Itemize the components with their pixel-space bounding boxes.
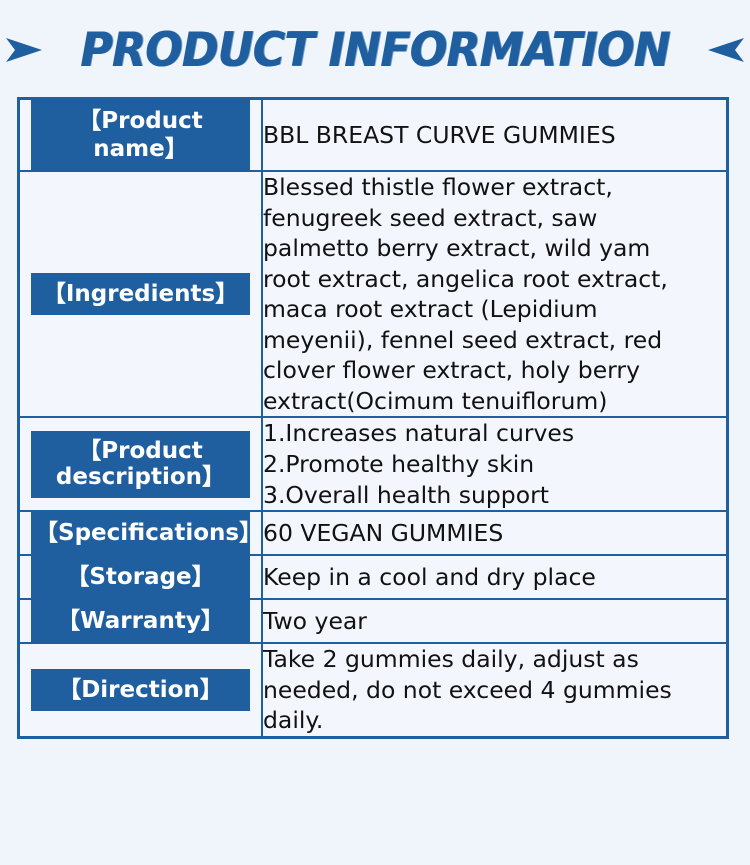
table-row: 【Direction】 Take 2 gummies daily, adjust… xyxy=(19,643,728,737)
row-label: 【Specifications】 xyxy=(31,512,250,554)
product-information-page: PRODUCT INFORMATION 【Product name】 BBL B… xyxy=(0,0,750,865)
table-row-label-cell: 【Product name】 xyxy=(19,99,263,172)
row-label: 【Ingredients】 xyxy=(31,273,250,315)
row-value: Keep in a cool and dry place xyxy=(262,555,728,599)
page-header: PRODUCT INFORMATION xyxy=(0,14,750,86)
row-value: 60 VEGAN GUMMIES xyxy=(262,511,728,555)
product-information-table: 【Product name】 BBL BREAST CURVE GUMMIES … xyxy=(17,97,729,739)
row-value: Take 2 gummies daily, adjust as needed, … xyxy=(262,643,728,737)
row-label: 【Warranty】 xyxy=(31,600,250,642)
arrow-left-icon xyxy=(706,36,746,64)
table-row: 【Ingredients】 Blessed thistle flower ext… xyxy=(19,171,728,417)
table-row: 【Storage】 Keep in a cool and dry place xyxy=(19,555,728,599)
row-value: Blessed thistle flower extract, fenugree… xyxy=(262,171,728,417)
table-row-label-cell: 【Direction】 xyxy=(19,643,263,737)
table-row: 【Warranty】 Two year xyxy=(19,599,728,643)
row-label: 【Direction】 xyxy=(31,669,250,711)
table-row-label-cell: 【Warranty】 xyxy=(19,599,263,643)
table-row: 【Specifications】 60 VEGAN GUMMIES xyxy=(19,511,728,555)
table-row-label-cell: 【Storage】 xyxy=(19,555,263,599)
table-row-label-cell: 【Ingredients】 xyxy=(19,171,263,417)
row-value: 1.Increases natural curves 2.Promote hea… xyxy=(262,417,728,511)
row-label: 【Product name】 xyxy=(31,100,250,170)
table-row-label-cell: 【Specifications】 xyxy=(19,511,263,555)
row-value: BBL BREAST CURVE GUMMIES xyxy=(262,99,728,172)
table-row: 【Product name】 BBL BREAST CURVE GUMMIES xyxy=(19,99,728,172)
table-row: 【Product description】 1.Increases natura… xyxy=(19,417,728,511)
page-title: PRODUCT INFORMATION xyxy=(80,23,669,78)
arrow-right-icon xyxy=(4,36,44,64)
table-row-label-cell: 【Product description】 xyxy=(19,417,263,511)
row-label: 【Storage】 xyxy=(31,556,250,598)
row-label: 【Product description】 xyxy=(31,431,250,498)
row-value: Two year xyxy=(262,599,728,643)
